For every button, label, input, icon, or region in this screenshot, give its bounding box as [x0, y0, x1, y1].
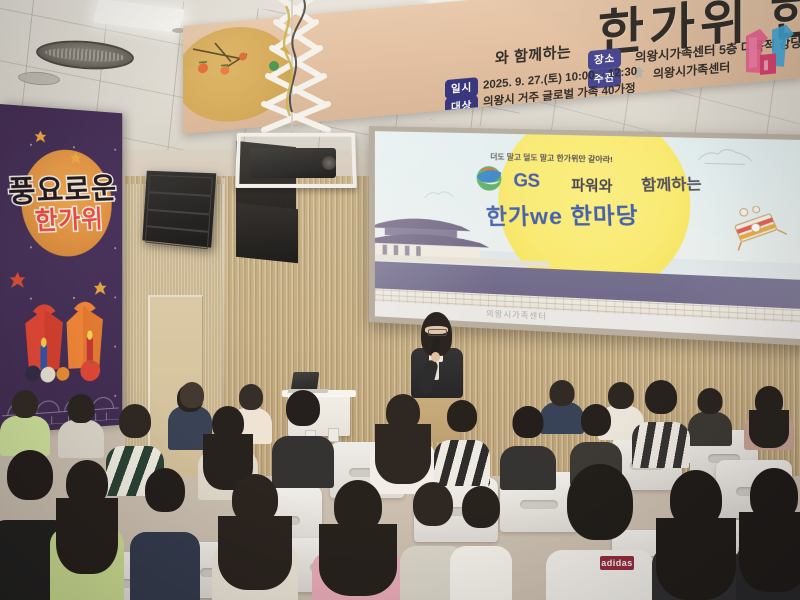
gs-logo-icon [476, 165, 503, 192]
maple-leaf-icon [10, 272, 25, 288]
audience-person [744, 386, 794, 448]
slide-main-title: 한가we 한마당 [485, 197, 639, 231]
audience-person [632, 380, 690, 466]
maple-leaf-icon [35, 130, 46, 142]
photo-scene: 와 함께하는 한가위 한마당 장소 의왕시가족센터 5층 다목적 강당 주관 의… [0, 0, 800, 600]
maple-leaf-icon [70, 152, 81, 164]
audience-person [0, 390, 50, 450]
bojagi-gift-wrap-icon [18, 289, 114, 385]
audience-person [434, 400, 490, 484]
ceiling-projector [236, 132, 356, 188]
audience-person [130, 468, 200, 600]
audience-person [50, 460, 124, 600]
audience-person [312, 480, 404, 600]
wall-banner-line2: 한가위 [34, 200, 104, 238]
speaker-cabinet-lower [236, 203, 298, 264]
audience-person [212, 474, 298, 600]
audience-person [688, 388, 732, 444]
hanbok-decoration-icon [742, 22, 798, 93]
glasses-icon [428, 329, 447, 336]
banner-prefix-text: 와 함께하는 [495, 41, 571, 69]
seated-audience: adidas [0, 380, 800, 600]
audience-person [370, 394, 436, 492]
presenter-hand [431, 352, 440, 362]
shirt-brand-text: adidas [600, 556, 634, 570]
audience-person [736, 468, 800, 600]
cloud-doodle-icon [696, 146, 754, 166]
audience-person [546, 464, 654, 600]
slide-with-text: 함께하는 [641, 173, 703, 196]
flying-kite-icon [725, 205, 786, 252]
slide-brand-suffix: 파워와 [571, 174, 612, 196]
audience-person [58, 394, 104, 452]
scissor-lift-mount-icon [246, 0, 348, 142]
cloud-doodle-icon [424, 188, 458, 201]
line-array-speaker [142, 171, 216, 248]
audience-person [272, 390, 334, 486]
audience-person [450, 486, 512, 600]
projector-lens-icon [322, 156, 336, 170]
slide-brand-gs: GS [513, 170, 539, 192]
audience-person [652, 470, 740, 600]
